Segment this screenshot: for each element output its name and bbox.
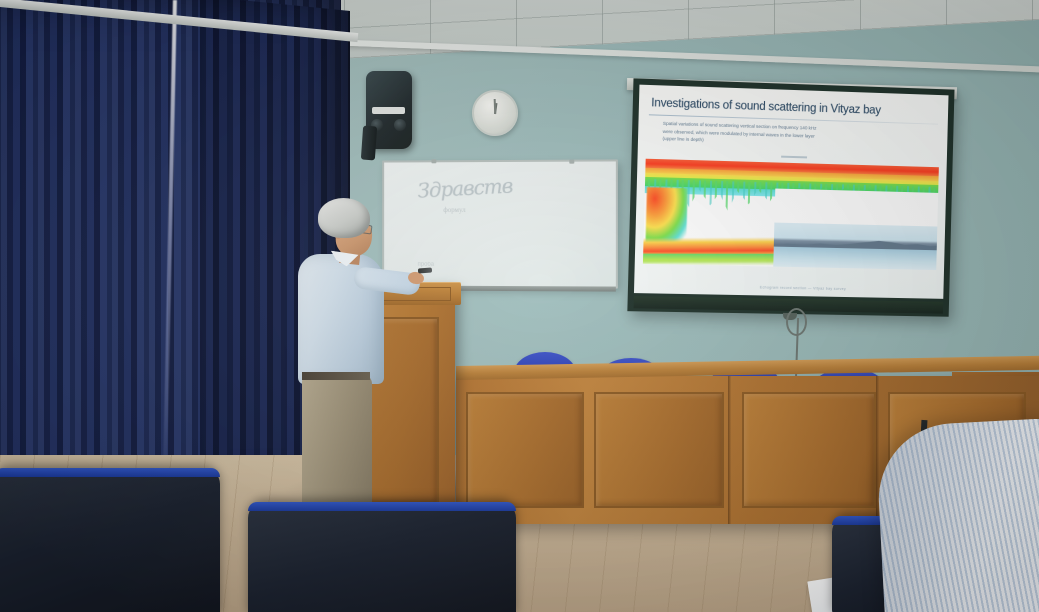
whiteboard-handwriting: Здравств bbox=[417, 173, 513, 202]
slide-body-text: Spatial variations of sound scattering v… bbox=[662, 120, 934, 151]
desk-seam-1 bbox=[728, 376, 731, 524]
foreground-chair-2-rim bbox=[248, 502, 516, 511]
speaker-mount-arm bbox=[361, 126, 377, 161]
inset-bay-photo bbox=[774, 223, 938, 270]
presenter-trousers bbox=[302, 374, 372, 514]
whiteboard-clip-right bbox=[569, 160, 574, 164]
foreground-chair-1[interactable] bbox=[0, 468, 220, 612]
conference-room-photo: Здравств формул проба Investigations of … bbox=[0, 0, 1039, 612]
audience-member-shading bbox=[875, 417, 1039, 612]
echogram-figure bbox=[643, 159, 939, 270]
speaker-label-plate bbox=[372, 107, 405, 114]
presentation-slide: Investigations of sound scattering in Vi… bbox=[634, 85, 949, 299]
laser-pointer-icon[interactable] bbox=[418, 268, 432, 274]
inset-water bbox=[774, 246, 937, 270]
projection-screen[interactable]: Investigations of sound scattering in Vi… bbox=[627, 78, 954, 316]
speaker-cone-right bbox=[394, 119, 406, 131]
presenter bbox=[292, 196, 422, 516]
foreground-chair-2[interactable] bbox=[248, 502, 516, 612]
wall-clock-icon bbox=[472, 90, 518, 136]
slide-separator bbox=[781, 156, 807, 159]
presenter-belt bbox=[302, 372, 370, 380]
desk-panel-1 bbox=[466, 392, 584, 508]
whiteboard-clip-left bbox=[431, 159, 436, 163]
desk-panel-2 bbox=[594, 392, 724, 508]
whiteboard-note: формул bbox=[443, 206, 465, 214]
presenter-hair bbox=[318, 198, 370, 238]
clock-minute-hand bbox=[494, 99, 496, 114]
echogram-left-plume bbox=[645, 187, 687, 245]
foreground-chair-1-rim bbox=[0, 468, 220, 477]
desk-panel-3 bbox=[742, 392, 876, 508]
slide-figure-caption: Echogram record section — Vityaz bay sur… bbox=[691, 284, 913, 292]
